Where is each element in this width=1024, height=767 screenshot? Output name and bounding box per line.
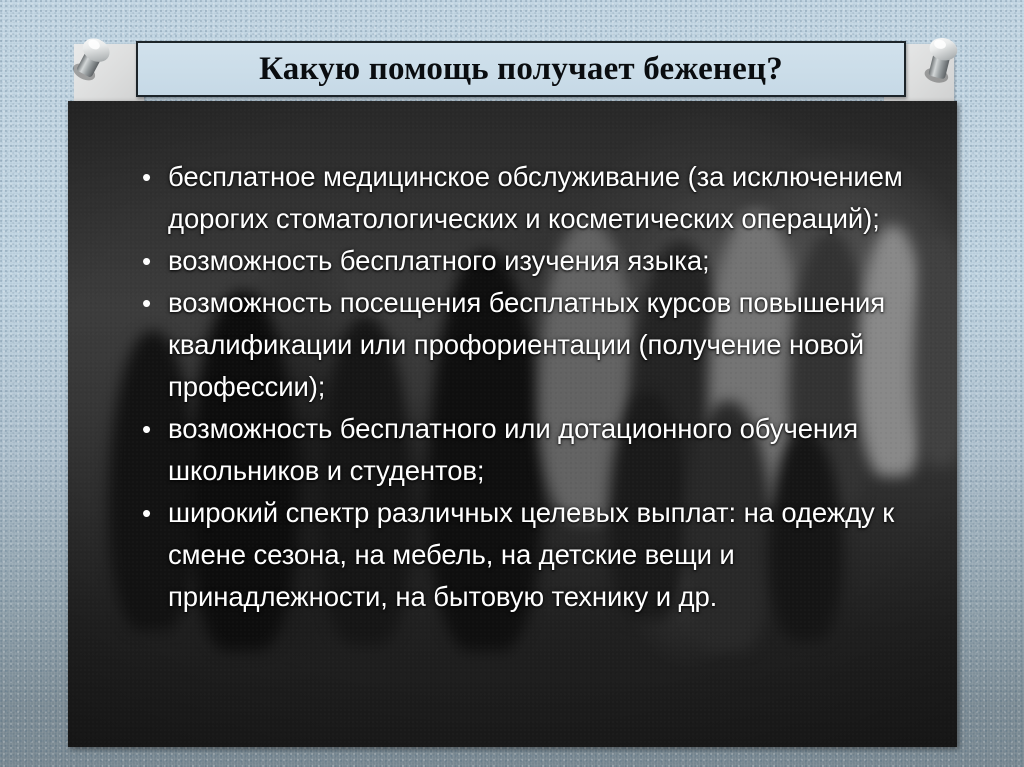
list-item: • широкий спектр различных целевых выпла… [132, 492, 952, 618]
pin-paper-left [74, 44, 144, 106]
list-item: • возможность бесплатного или дотационно… [132, 408, 952, 492]
list-item-text: возможность бесплатного или дотационного… [168, 408, 952, 492]
list-item-text: широкий спектр различных целевых выплат:… [168, 492, 952, 618]
bullet-list: • бесплатное медицинское обслуживание (з… [132, 156, 952, 618]
bullet-marker-icon: • [132, 408, 168, 450]
list-item-text: возможность бесплатного изучения языка; [168, 240, 952, 282]
bullet-marker-icon: • [132, 240, 168, 282]
list-item-text: возможность посещения бесплатных курсов … [168, 282, 952, 408]
bullet-marker-icon: • [132, 156, 168, 198]
page-title: Какую помощь получает беженец? [259, 53, 783, 86]
bullet-marker-icon: • [132, 492, 168, 534]
list-item-text: бесплатное медицинское обслуживание (за … [168, 156, 952, 240]
bullet-marker-icon: • [132, 282, 168, 324]
slide: Какую помощь получает беженец? [0, 0, 1024, 767]
list-item: • возможность бесплатного изучения языка… [132, 240, 952, 282]
list-item: • возможность посещения бесплатных курсо… [132, 282, 952, 408]
list-item: • бесплатное медицинское обслуживание (з… [132, 156, 952, 240]
title-plate: Какую помощь получает беженец? [136, 41, 906, 97]
